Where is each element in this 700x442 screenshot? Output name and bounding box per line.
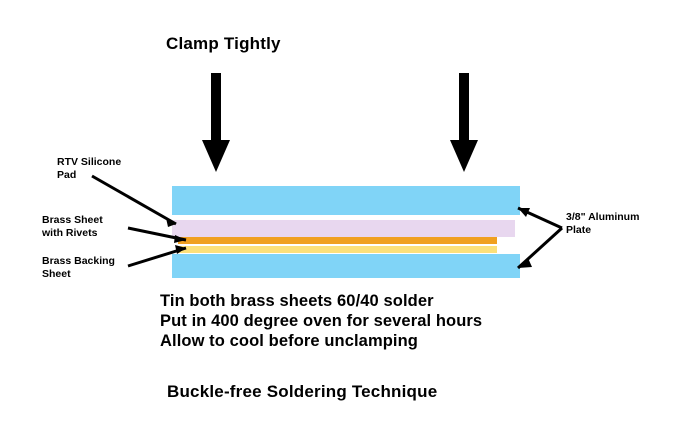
brass-backing-sheet-layer: [178, 246, 497, 253]
instruction-line-3: Allow to cool before unclamping: [160, 331, 482, 351]
instruction-line-1: Tin both brass sheets 60/40 solder: [160, 291, 482, 311]
clamp-arrow-left-icon: [202, 73, 230, 172]
aluminum-plate-bottom-layer: [172, 254, 520, 278]
label-rtv-line-1: RTV Silicone: [57, 156, 121, 169]
label-aluminum-line-2: Plate: [566, 224, 639, 237]
label-aluminum-line-1: 3/8" Aluminum: [566, 211, 639, 224]
aluminum-plate-top-layer: [172, 186, 520, 215]
soldering-technique-diagram: Clamp Tightly: [0, 0, 700, 442]
label-backing-line-1: Brass Backing: [42, 255, 115, 268]
instruction-list: Tin both brass sheets 60/40 solder Put i…: [160, 291, 482, 351]
label-brass-backing-sheet: Brass Backing Sheet: [42, 255, 115, 281]
label-aluminum-plate: 3/8" Aluminum Plate: [566, 211, 639, 237]
diagram-title: Buckle-free Soldering Technique: [167, 382, 437, 402]
label-backing-line-2: Sheet: [42, 268, 115, 281]
label-brass-line-1: Brass Sheet: [42, 214, 103, 227]
brass-sheet-with-rivets-layer: [178, 237, 497, 244]
label-brass-line-2: with Rivets: [42, 227, 103, 240]
label-rtv-line-2: Pad: [57, 169, 121, 182]
leader-line-rtv-silicone-pad: [92, 176, 176, 227]
clamp-arrow-right-icon: [450, 73, 478, 172]
label-brass-sheet-with-rivets: Brass Sheet with Rivets: [42, 214, 103, 240]
clamp-tightly-heading: Clamp Tightly: [166, 34, 281, 54]
leader-line-aluminum-plate-bottom: [518, 228, 562, 268]
instruction-line-2: Put in 400 degree oven for several hours: [160, 311, 482, 331]
rtv-silicone-pad-layer: [172, 220, 515, 237]
leader-line-aluminum-plate-top: [518, 208, 562, 228]
label-rtv-silicone-pad: RTV Silicone Pad: [57, 156, 121, 182]
